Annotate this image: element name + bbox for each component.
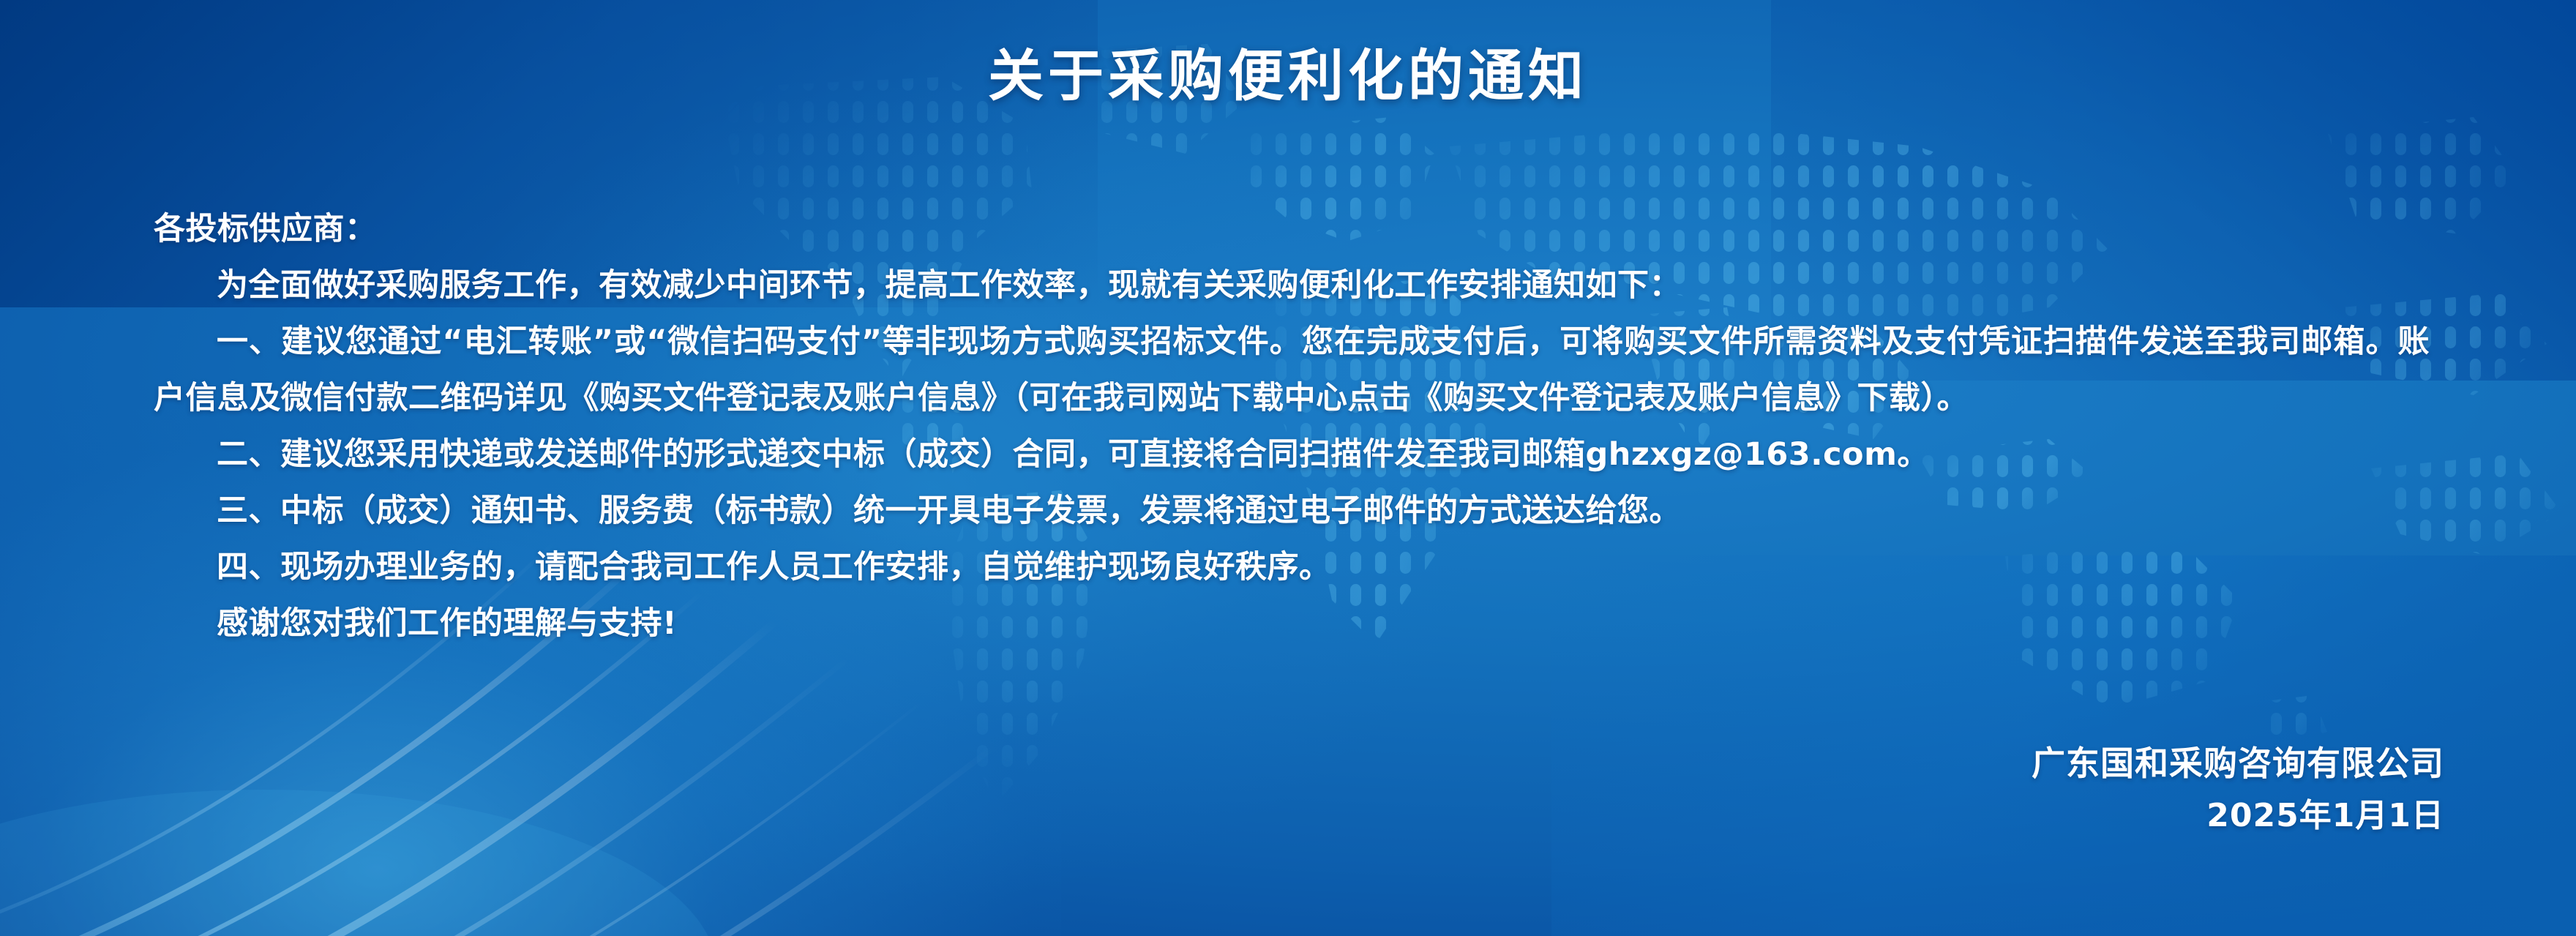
signature-date: 2025年1月1日 [2032,790,2444,842]
salutation: 各投标供应商： [154,201,2430,258]
banner-content: 关于采购便利化的通知 各投标供应商： 为全面做好采购服务工作，有效减少中间环节，… [0,0,2576,936]
closing-line: 感谢您对我们工作的理解与支持! [154,596,2430,652]
paragraph-item-2: 二、建议您采用快递或发送邮件的形式递交中标（成交）合同，可直接将合同扫描件发至我… [154,427,2430,483]
paragraph-item-4: 四、现场办理业务的，请配合我司工作人员工作安排，自觉维护现场良好秩序。 [154,539,2430,596]
paragraph-item-1: 一、建议您通过“电汇转账”或“微信扫码支付”等非现场方式购买招标文件。您在完成支… [154,314,2430,427]
paragraph-intro: 为全面做好采购服务工作，有效减少中间环节，提高工作效率，现就有关采购便利化工作安… [154,258,2430,314]
signature-block: 广东国和采购咨询有限公司 2025年1月1日 [2032,737,2444,842]
notice-banner: 关于采购便利化的通知 各投标供应商： 为全面做好采购服务工作，有效减少中间环节，… [0,0,2576,936]
company-name: 广东国和采购咨询有限公司 [2032,737,2444,790]
notice-body: 各投标供应商： 为全面做好采购服务工作，有效减少中间环节，提高工作效率，现就有关… [154,201,2430,652]
paragraph-item-3: 三、中标（成交）通知书、服务费（标书款）统一开具电子发票，发票将通过电子邮件的方… [154,483,2430,539]
page-title: 关于采购便利化的通知 [0,31,2576,111]
